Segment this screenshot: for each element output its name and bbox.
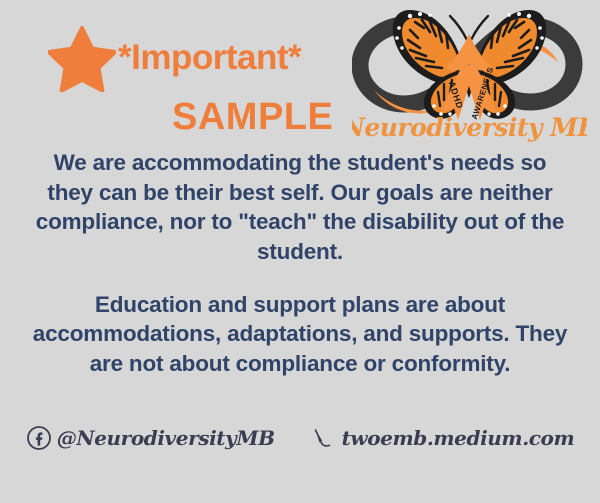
neurodiversity-mb-logo: ADHD AWARENESS Neurodiversity MB — [352, 2, 587, 147]
poster-canvas: *Important* SAMPLE — [0, 0, 600, 503]
poster-header: *Important* SAMPLE — [0, 0, 600, 150]
medium-handle-group[interactable]: twoemb.medium.com — [311, 425, 575, 451]
paragraph-one: We are accommodating the student's needs… — [30, 148, 570, 267]
paragraph-two: Education and support plans are about ac… — [30, 290, 570, 379]
medium-pen-icon[interactable] — [311, 425, 337, 451]
poster-footer: @NeurodiversityMB twoemb.medium.com — [0, 405, 600, 470]
important-label: *Important* — [118, 40, 301, 75]
star-icon — [48, 26, 116, 92]
medium-handle-label[interactable]: twoemb.medium.com — [342, 426, 575, 450]
logo-brand-name: Neurodiversity MB — [352, 113, 587, 142]
sample-label: SAMPLE — [172, 98, 333, 136]
facebook-handle-group[interactable]: @NeurodiversityMB — [26, 425, 275, 451]
facebook-icon[interactable] — [26, 425, 52, 451]
poster-body: We are accommodating the student's needs… — [30, 148, 570, 379]
facebook-handle-label[interactable]: @NeurodiversityMB — [57, 426, 275, 450]
